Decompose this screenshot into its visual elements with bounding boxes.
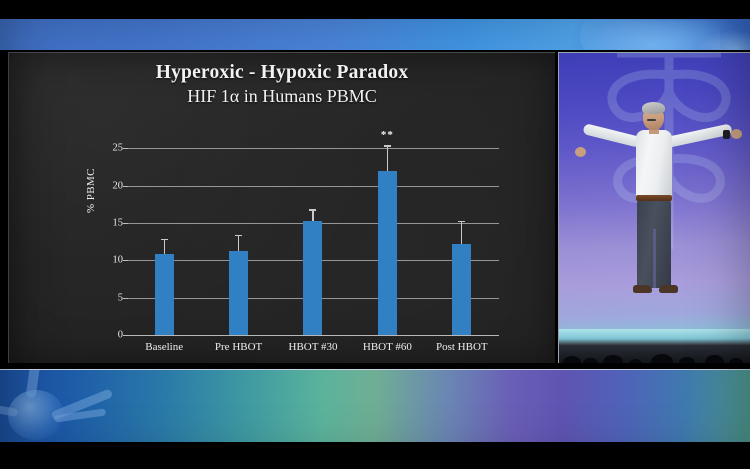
error-bar-cap	[235, 235, 242, 236]
audience-head	[603, 355, 623, 363]
bar-chart: % PBMC 0510152025 ** BaselinePre HBOTHBO…	[9, 53, 555, 363]
error-bar	[312, 209, 313, 221]
x-axis-tick-label: Post HBOT	[419, 341, 505, 353]
y-axis-ticks: 0510152025	[97, 137, 123, 335]
y-axis-tick-label: 5	[101, 292, 123, 303]
bottom-black-bar	[0, 442, 750, 469]
speaker-video-panel	[558, 52, 750, 363]
speaker-left-shoe	[633, 285, 652, 293]
error-bar	[461, 221, 462, 244]
y-axis-label: % PBMC	[85, 168, 97, 213]
audience-head	[729, 358, 743, 363]
audience-head	[651, 354, 673, 363]
plot-area: **	[127, 137, 499, 335]
error-bar-cap	[384, 145, 391, 146]
x-axis-tick-label: HBOT #30	[270, 341, 356, 353]
audience-silhouettes	[559, 339, 750, 363]
top-black-bar	[0, 0, 750, 19]
y-axis-tick-mark	[123, 260, 128, 261]
error-bar-cap	[161, 239, 168, 240]
presentation-slide: Hyperoxic - Hypoxic Paradox HIF 1α in Hu…	[8, 52, 555, 363]
speaker-left-hand	[575, 147, 586, 157]
bar[interactable]	[303, 221, 322, 335]
audience-head	[583, 358, 598, 363]
bar[interactable]	[229, 251, 248, 335]
audience-head	[563, 356, 581, 363]
bar[interactable]	[378, 171, 397, 335]
error-bar	[238, 235, 239, 251]
video-player-frame: Hyperoxic - Hypoxic Paradox HIF 1α in Hu…	[0, 0, 750, 469]
y-axis-tick-mark	[123, 186, 128, 187]
y-axis-tick-mark	[123, 298, 128, 299]
bar-group	[276, 137, 350, 335]
y-axis-tick-label: 20	[101, 180, 123, 191]
speaker-shirt	[636, 130, 672, 198]
audience-head	[705, 355, 724, 363]
y-axis-tick-label: 10	[101, 255, 123, 266]
y-axis-tick-label: 0	[101, 330, 123, 341]
bar-group: **	[350, 137, 424, 335]
x-axis-tick-label: Pre HBOT	[196, 341, 282, 353]
speaker-hair	[642, 102, 665, 114]
bar-slot	[155, 137, 174, 335]
error-bar-cap	[458, 221, 465, 222]
y-axis-tick-mark	[123, 148, 128, 149]
speaker-right-shoe	[659, 285, 678, 293]
significance-marker: **	[381, 129, 394, 141]
audience-head	[679, 357, 695, 363]
speaker-right-hand	[731, 129, 742, 139]
speaker-belt	[636, 195, 672, 201]
error-bar	[387, 145, 388, 170]
speaker-leg-gap	[653, 229, 656, 288]
error-bar-cap	[309, 209, 316, 210]
speaker-wristwatch	[723, 130, 730, 139]
x-axis-tick-label: HBOT #60	[344, 341, 430, 353]
x-axis-tick-label: Baseline	[121, 341, 207, 353]
bar[interactable]	[155, 254, 174, 335]
bar-slot	[303, 137, 322, 335]
neuron-graphic-icon	[0, 372, 90, 442]
bar[interactable]	[452, 244, 471, 335]
error-bar	[164, 239, 165, 255]
y-axis-tick-mark	[123, 335, 128, 336]
x-axis-line	[127, 335, 499, 336]
top-blue-banner	[0, 19, 750, 50]
bar-group	[425, 137, 499, 335]
bar-group	[127, 137, 201, 335]
bottom-branding-banner: EXPONENTIAL Medicine By Singularity Univ…	[0, 369, 750, 443]
y-axis-tick-label: 15	[101, 217, 123, 228]
bar-group	[201, 137, 275, 335]
y-axis-tick-mark	[123, 223, 128, 224]
y-axis-tick-label: 25	[101, 143, 123, 154]
speaker-headset-mic-icon	[647, 119, 656, 121]
audience-head	[629, 359, 642, 363]
